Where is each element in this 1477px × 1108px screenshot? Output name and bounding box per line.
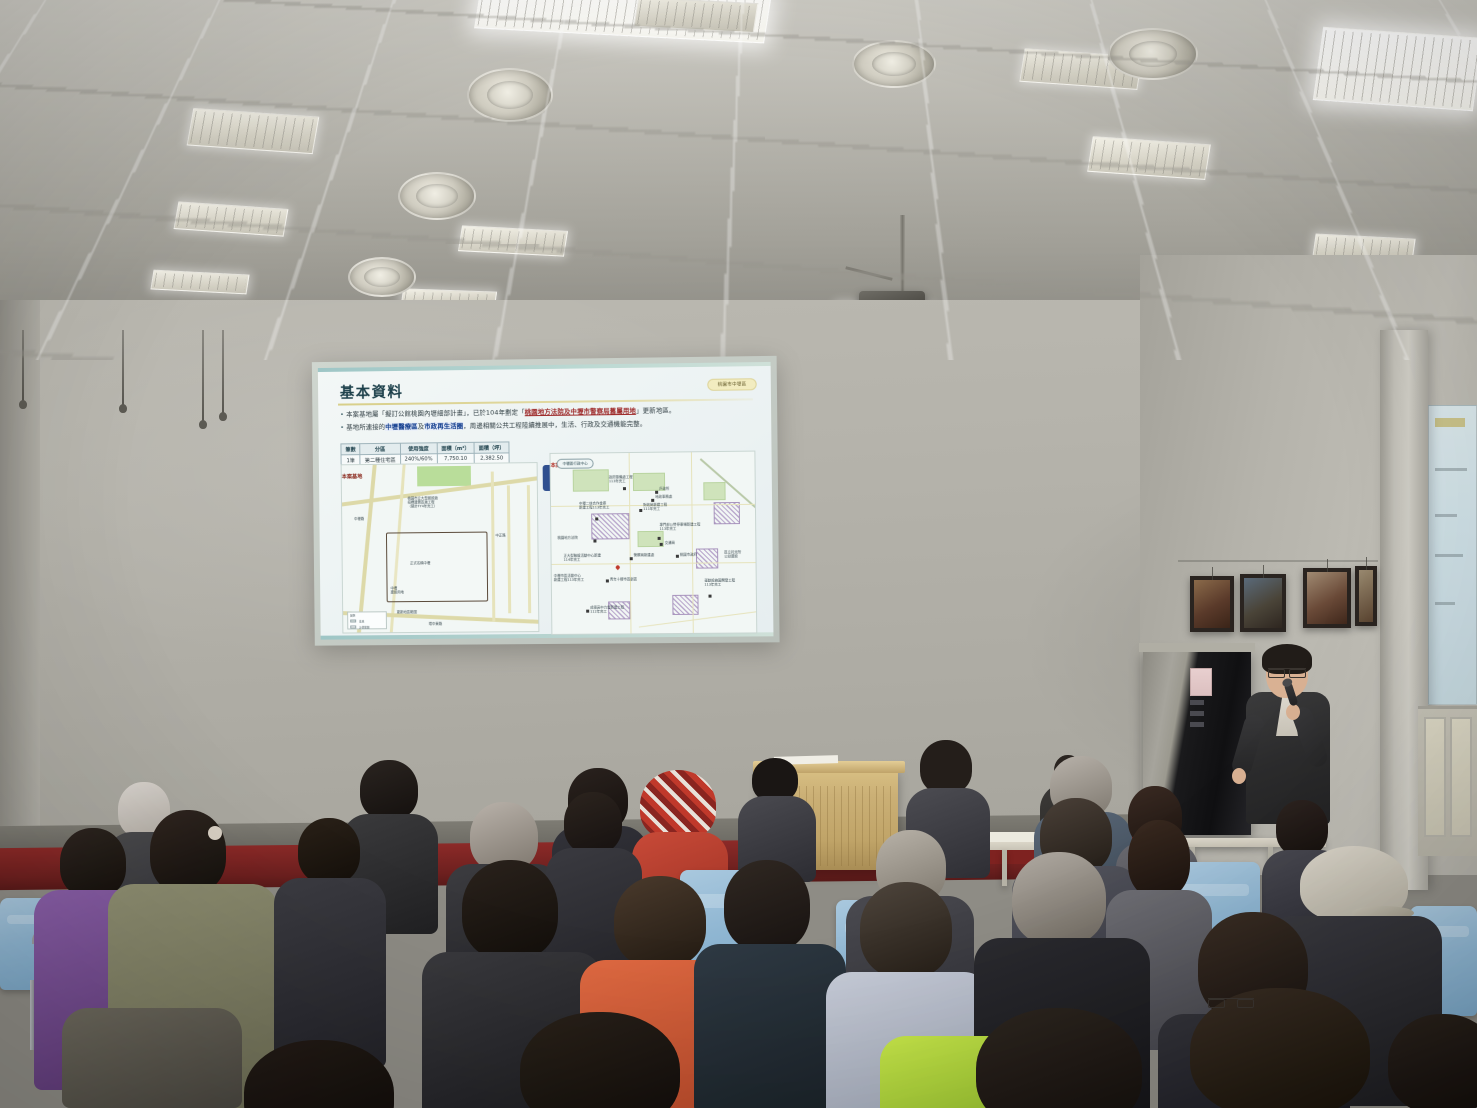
slide-top-accent-bar bbox=[318, 362, 771, 372]
hanging-wall-map bbox=[1428, 405, 1477, 705]
presenter-right-hand bbox=[1232, 768, 1246, 784]
attendee-head bbox=[1276, 800, 1328, 856]
glasses-icon bbox=[1208, 998, 1254, 1005]
meeting-room-scene: 基本資料 桃園市中壢區 本案基地屬「擬訂公館桃園內壢細部計畫」，已於104年劃定… bbox=[0, 0, 1477, 1108]
map-marker-label-8: 桃園地方法院 bbox=[557, 536, 577, 540]
site-location-map: 桃園市立大型館設施招標建置區施工程（預計FY4年完工） 本案基地 正式名稱中壢 … bbox=[341, 462, 540, 633]
ceiling-air-diffuser bbox=[398, 172, 476, 220]
attendee-head bbox=[1128, 820, 1190, 898]
ceiling-air-diffuser bbox=[467, 68, 553, 122]
map-marker-dot bbox=[676, 555, 679, 558]
map-marker-label-1: 政府籌備處工程113年完工 bbox=[609, 475, 633, 483]
bullet-1-seg-2: 桃園地方法院及中壢市警察局舊屬用地 bbox=[525, 407, 636, 416]
map-green-block-1 bbox=[573, 469, 609, 491]
surrounding-public-works-map: 中壢區行政中心 政府籌備處工程113年完工 中壢二信合作金庫 bbox=[549, 451, 757, 635]
bullet-2-seg-4: 市政再生活圈 bbox=[424, 422, 463, 430]
map-hatch-block-3 bbox=[696, 548, 718, 568]
attendee-head bbox=[920, 740, 972, 794]
th-area-ping: 面積（坪） bbox=[474, 442, 509, 454]
baseball-cap bbox=[1300, 846, 1408, 922]
map-marker-label-14: 青年十櫻市區創區 bbox=[610, 577, 637, 581]
map-site-sublabel: 正式名稱中壢 bbox=[410, 561, 430, 565]
slide-bullet-2: 基地所連接的中壢醫療區及市政再生活圈，周邊相關公共工程陸續推展中，生活、行政及交… bbox=[340, 420, 646, 432]
map-annotation-1: 桃園市立大型館設施招標建置區施工程（預計FY4年完工） bbox=[407, 496, 437, 509]
map-road-vertical bbox=[356, 462, 377, 633]
attendee-body bbox=[694, 944, 846, 1108]
ceiling-hook bbox=[202, 330, 204, 422]
ceiling-air-diffuser bbox=[1108, 28, 1198, 80]
map-marker-label-2: 中壢二信合作金庫新建工程113年完工 bbox=[579, 501, 609, 509]
glasses-icon bbox=[1268, 668, 1306, 675]
framed-artwork-3 bbox=[1303, 568, 1351, 628]
map-legend: 圖例 基地 計畫範圍 bbox=[347, 611, 387, 629]
hair-tie bbox=[208, 826, 222, 840]
attendee-head bbox=[298, 818, 360, 884]
map-marker-dot bbox=[593, 540, 596, 543]
slide-region-badge: 桃園市中壢區 bbox=[707, 378, 756, 391]
map-marker-label-11: 桃園市政府 bbox=[680, 553, 697, 557]
attendee-head bbox=[60, 828, 126, 898]
map-road-label-2: 中正路 bbox=[495, 533, 505, 537]
presentation-slide: 基本資料 桃園市中壢區 本案基地屬「擬訂公館桃園內壢細部計畫」，已於104年劃定… bbox=[318, 362, 774, 640]
th-area-sqm: 面積（m²） bbox=[437, 442, 474, 454]
map-district-pill: 中壢區行政中心 bbox=[557, 458, 594, 468]
attendee-head bbox=[360, 760, 418, 820]
bullet-2-seg-1: 基地所連接的 bbox=[346, 423, 385, 431]
legend-label-2: 計畫範圍 bbox=[359, 625, 369, 629]
map-road-label-4: 更新地區範圍 bbox=[397, 610, 417, 614]
map-marker-dot bbox=[586, 610, 589, 613]
map-site-label: 本案基地 bbox=[342, 474, 363, 480]
map-green-area bbox=[417, 466, 471, 487]
table-leg bbox=[1002, 850, 1007, 886]
map-marker-dot bbox=[595, 517, 598, 520]
attendee-head bbox=[724, 860, 810, 952]
attendee-head bbox=[614, 876, 706, 968]
attendee-head bbox=[860, 882, 952, 978]
map-marker-label-5: 財政局新建工程111年完工 bbox=[643, 503, 667, 511]
slide-bullet-1: 本案基地屬「擬訂公館桃園內壢細部計畫」，已於104年劃定「桃園地方法院及中壢市警… bbox=[340, 406, 675, 419]
framed-artwork-2 bbox=[1240, 574, 1286, 632]
map-road-label-1: 中壢路 bbox=[354, 517, 364, 521]
ceiling-hook bbox=[122, 330, 124, 406]
map-annotation-2: 中壢建設用地 bbox=[390, 586, 404, 594]
attendee-head bbox=[564, 792, 622, 854]
bullet-2-seg-5: ，周邊相關公共工程陸續推展中，生活、行政及交通機能完整。 bbox=[463, 420, 646, 430]
projector-mount-pole bbox=[900, 215, 905, 295]
ceiling-light-panel bbox=[1313, 27, 1477, 111]
map-marker-label-3: 戶政所 bbox=[659, 487, 669, 491]
slide-title: 基本資料 bbox=[340, 381, 404, 403]
map-road-strip-a bbox=[507, 485, 511, 613]
map-marker-dot bbox=[623, 487, 626, 490]
map-marker-label-6: 專門部公營停車場新建工程113年完工 bbox=[659, 522, 700, 531]
map-green-block-4 bbox=[703, 482, 725, 500]
framed-artwork-4 bbox=[1355, 566, 1377, 626]
map-marker-dot bbox=[630, 557, 633, 560]
map-marker-label-16: 成德高中力壇新建工程112年完工 bbox=[590, 605, 624, 613]
map-road-label-3: 環中東路 bbox=[429, 622, 443, 626]
map-hatch-block-4 bbox=[672, 595, 698, 615]
ceiling-air-diffuser bbox=[348, 257, 416, 297]
bullet-1-seg-1: 本案基地屬「擬訂公館桃園內壢細部計畫」，已於104年劃定「 bbox=[346, 408, 525, 418]
projection-screen: 基本資料 桃園市中壢區 本案基地屬「擬訂公館桃園內壢細部計畫」，已於104年劃定… bbox=[312, 356, 780, 646]
map-marker-label-15: 運動設施園開發工程113年完工 bbox=[704, 578, 735, 586]
th-intensity: 使用強度 bbox=[400, 443, 437, 455]
map-marker-dot bbox=[639, 509, 642, 512]
left-wall-edge bbox=[0, 300, 40, 860]
map-marker-dot bbox=[660, 543, 663, 546]
map-marker-label-13: 中壢市區活動中心新建工程113年完工 bbox=[554, 574, 584, 582]
bullet-2-seg-3: 及 bbox=[418, 422, 425, 430]
ceiling-hook bbox=[22, 330, 24, 402]
plaid-hood bbox=[640, 770, 716, 840]
attendee-head bbox=[1012, 852, 1106, 946]
attendee-head bbox=[462, 860, 558, 960]
th-zone: 分區 bbox=[360, 443, 400, 455]
map-marker-label-12: 區立托兒所公幼建設 bbox=[724, 550, 741, 558]
map-marker-dot bbox=[651, 499, 654, 502]
legend-title: 圖例 bbox=[350, 614, 355, 618]
map-marker-dot bbox=[658, 537, 661, 540]
bullet-2-seg-2: 中壢醫療區 bbox=[385, 423, 418, 431]
map-marker-label-9: 正大型聯誼活動中心新建114年完工 bbox=[564, 553, 601, 562]
map-road-right bbox=[491, 472, 495, 622]
map-road-strip-b bbox=[527, 485, 531, 613]
presenter-mic-hand bbox=[1286, 704, 1300, 720]
ceiling-light-panel bbox=[458, 225, 568, 256]
ceiling-air-diffuser bbox=[852, 40, 936, 88]
map-marker-label-4: 地政事務處 bbox=[655, 495, 672, 499]
bullet-1-seg-3: 」更新地區。 bbox=[636, 406, 676, 415]
cabinet-notice-paper bbox=[1190, 668, 1212, 696]
picture-rail bbox=[1178, 560, 1378, 562]
legend-label-1: 基地 bbox=[359, 619, 364, 623]
framed-artwork-1 bbox=[1190, 576, 1234, 632]
presenter bbox=[1240, 648, 1336, 823]
attendee-head bbox=[150, 810, 226, 894]
map-marker-label-10: 警察局新建處 bbox=[634, 553, 654, 557]
map-grid-road-h2 bbox=[552, 562, 758, 565]
ceiling-hook bbox=[222, 330, 224, 414]
legend-swatch-2 bbox=[350, 625, 356, 628]
attendee-body bbox=[62, 1008, 242, 1108]
map-site-pin bbox=[615, 565, 621, 571]
map-marker-dot bbox=[708, 595, 711, 598]
map-marker-dot bbox=[606, 579, 609, 582]
cabinet-label-text bbox=[1190, 700, 1204, 730]
window-lower-panel bbox=[1418, 706, 1477, 856]
map-marker-dot bbox=[655, 491, 658, 494]
map-marker-label-7: 交通局 bbox=[665, 541, 675, 545]
legend-swatch-1 bbox=[350, 619, 356, 622]
th-count: 筆數 bbox=[341, 444, 360, 455]
